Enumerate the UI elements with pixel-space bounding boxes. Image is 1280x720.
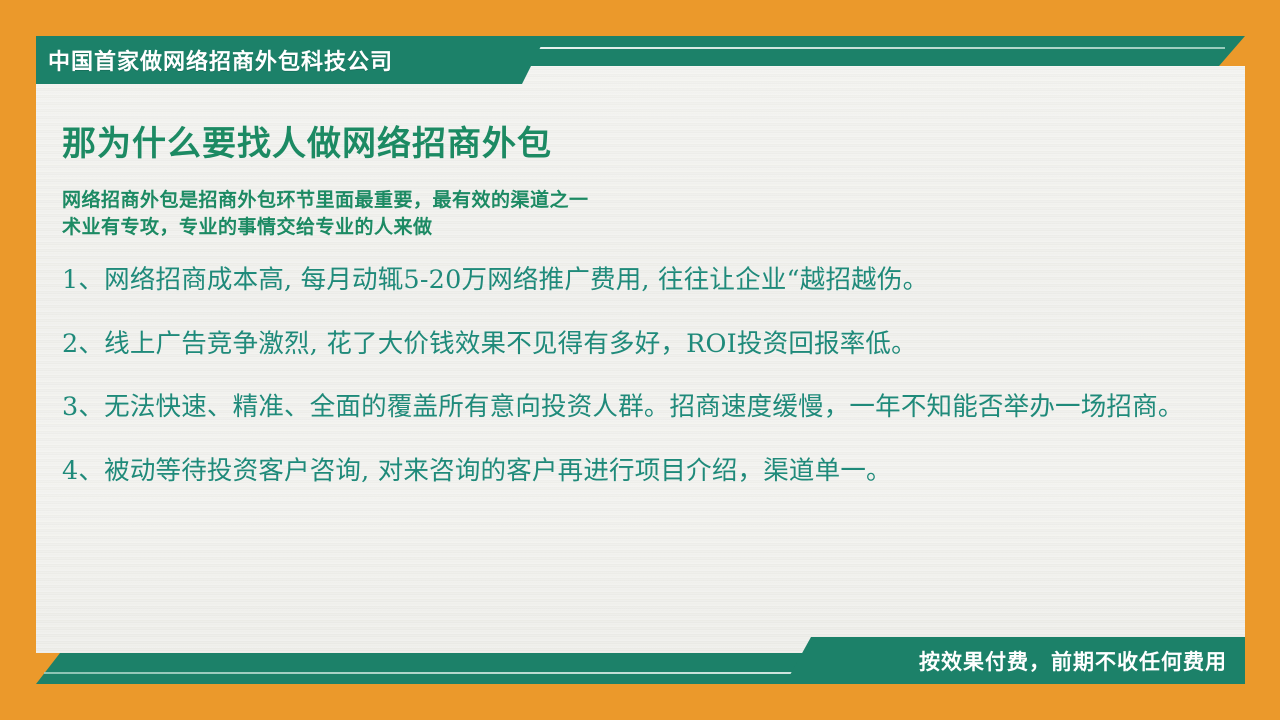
- subtitle-group: 网络招商外包是招商外包环节里面最重要，最有效的渠道之一 术业有专攻，专业的事情交…: [62, 187, 1192, 242]
- footer-title-tab: 按效果付费，前期不收任何费用: [785, 637, 1245, 684]
- slide: 中国首家做网络招商外包科技公司 那为什么要找人做网络招商外包 网络招商外包是招商…: [0, 0, 1280, 720]
- bullet-item-2: 2、线上广告竞争激烈, 花了大价钱效果不见得有多好，ROI投资回报率低。: [62, 328, 1192, 362]
- bullet-item-4: 4、被动等待投资客户咨询, 对来咨询的客户再进行项目介绍，渠道单一。: [62, 455, 1192, 489]
- header-title-tab: 中国首家做网络招商外包科技公司: [36, 36, 546, 84]
- bullet-item-3: 3、无法快速、精准、全面的覆盖所有意向投资人群。招商速度缓慢，一年不知能否举办一…: [62, 391, 1192, 425]
- subtitle-line-1: 网络招商外包是招商外包环节里面最重要，最有效的渠道之一: [62, 187, 1192, 215]
- header-divider-line: [430, 47, 1225, 49]
- header-title-text: 中国首家做网络招商外包科技公司: [36, 44, 393, 76]
- footer-title-text: 按效果付费，前期不收任何费用: [919, 646, 1245, 676]
- footer-band-corner-cut: [36, 653, 60, 684]
- bullet-item-1: 1、网络招商成本高, 每月动辄5-20万网络推广费用, 往往让企业“越招越伤。: [62, 264, 1192, 298]
- page-title: 那为什么要找人做网络招商外包: [62, 124, 1192, 165]
- slide-body: 那为什么要找人做网络招商外包 网络招商外包是招商外包环节里面最重要，最有效的渠道…: [62, 124, 1192, 489]
- bullet-list: 1、网络招商成本高, 每月动辄5-20万网络推广费用, 往往让企业“越招越伤。 …: [62, 264, 1192, 489]
- header-band-corner-cut: [1219, 36, 1245, 66]
- subtitle-line-2: 术业有专攻，专业的事情交给专业的人来做: [62, 214, 1192, 242]
